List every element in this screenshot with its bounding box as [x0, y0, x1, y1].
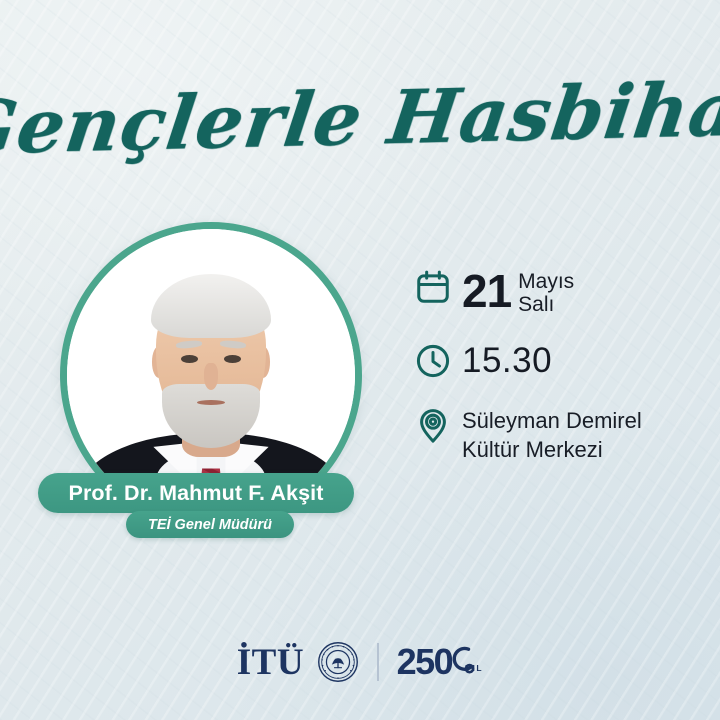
speaker-role-badge: TEİ Genel Müdürü — [126, 511, 294, 538]
speaker-name: Prof. Dr. Mahmut F. Akşit — [69, 481, 324, 506]
anniversary-logo: 250 YIL — [397, 643, 484, 682]
poster-title-container: “Gençlerle Hasbihal” — [0, 44, 720, 194]
speaker-name-badge: Prof. Dr. Mahmut F. Akşit — [38, 473, 354, 513]
photo-hair — [151, 274, 272, 338]
location-line-2: Kültür Merkezi — [462, 436, 694, 464]
footer-divider — [377, 643, 379, 681]
photo-eye-right — [224, 355, 241, 363]
location-line-1: Süleyman Demirel — [462, 407, 694, 435]
event-month: Mayıs — [518, 271, 574, 294]
detail-row-location: Süleyman Demirel Kültür Merkezi — [414, 406, 694, 463]
footer-logos: İTÜ — [0, 632, 720, 692]
clock-icon — [414, 342, 462, 380]
event-weekday: Salı — [518, 294, 574, 317]
photo-eye-left — [181, 355, 198, 363]
anniversary-unit: YIL — [465, 663, 483, 673]
event-details: 21 Mayıs Salı 15.30 — [414, 268, 694, 490]
photo-nose — [204, 363, 218, 389]
event-day: 21 — [462, 269, 511, 313]
time-text-wrap: 15.30 — [462, 342, 694, 378]
itu-wordmark: İTÜ — [237, 644, 304, 681]
detail-row-date: 21 Mayıs Salı — [414, 268, 694, 316]
event-poster: “Gençlerle Hasbihal” — [0, 0, 720, 720]
speaker-role: TEİ Genel Müdürü — [148, 517, 272, 533]
detail-row-time: 15.30 — [414, 342, 694, 380]
calendar-icon — [414, 268, 462, 306]
location-text: Süleyman Demirel Kültür Merkezi — [462, 406, 694, 463]
location-pin-icon — [414, 406, 462, 444]
page-title: “Gençlerle Hasbihal” — [0, 65, 720, 173]
itu-seal-icon — [317, 641, 359, 683]
event-time: 15.30 — [462, 343, 694, 378]
date-text: 21 Mayıs Salı — [462, 268, 694, 316]
anniversary-number: 250 — [397, 644, 453, 680]
